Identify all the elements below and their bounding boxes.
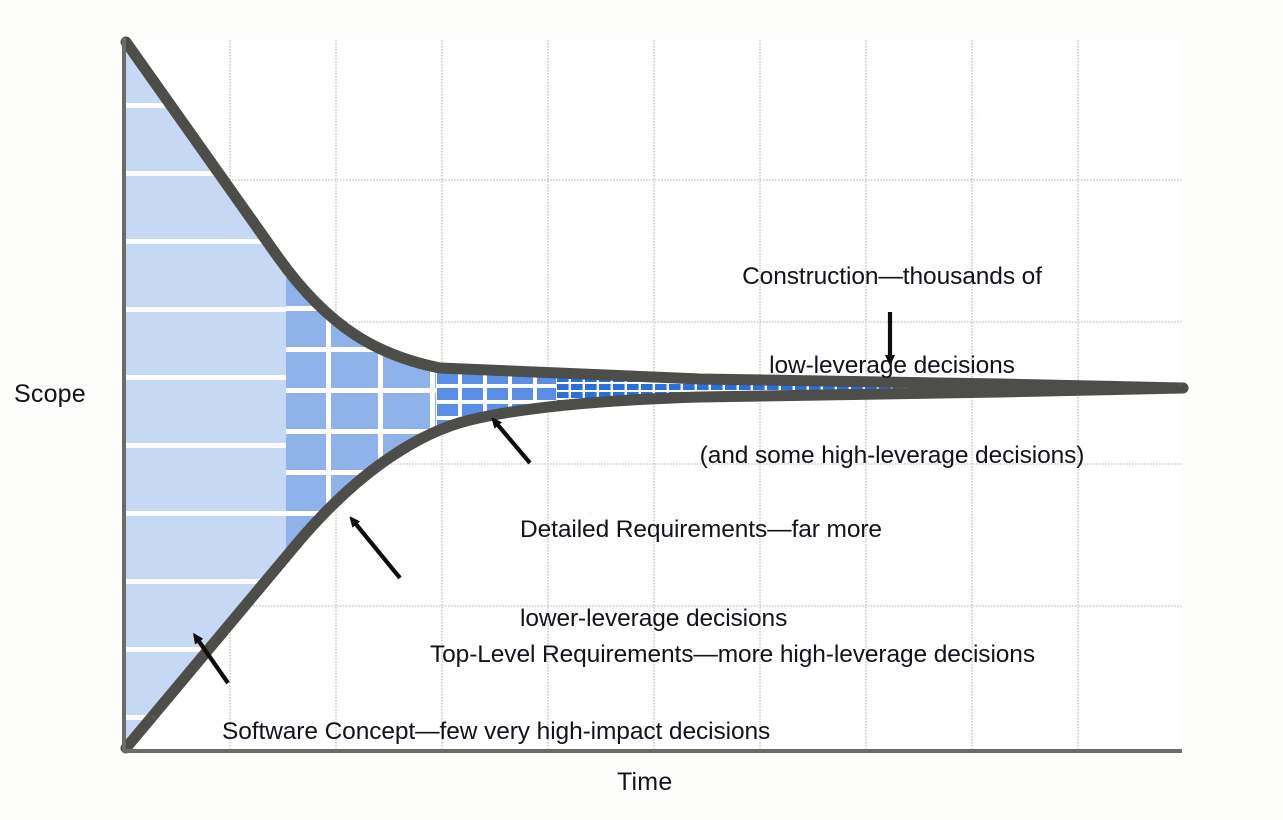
y-axis-label: Scope — [14, 380, 86, 409]
annotation-construction-line-2: low-leverage decisions — [700, 351, 1085, 381]
annotation-software-concept-line-1: Software Concept—few very high-impact de… — [222, 717, 770, 747]
annotation-detailed-requirements-line-1: Detailed Requirements—far more — [520, 515, 882, 545]
annotation-software-concept: Software Concept—few very high-impact de… — [222, 657, 770, 806]
annotation-construction-line-1: Construction—thousands of — [700, 262, 1085, 292]
funnel-chart-figure: Scope Time Construction—thousands of low… — [0, 0, 1283, 815]
